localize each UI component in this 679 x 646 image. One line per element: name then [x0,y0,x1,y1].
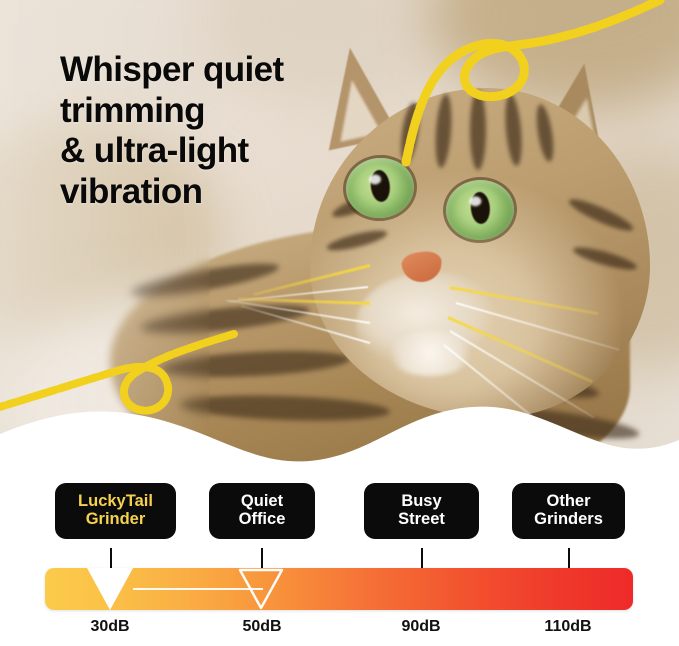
scale-label-50db: 50dB [222,618,302,636]
badge-line-1: Quiet [239,492,286,510]
marker-luckytail-filled [87,568,133,610]
marker-quiet-office-outline [238,568,284,610]
cat-stripe [325,227,388,255]
badge-line-1: Busy [398,492,445,510]
headline-line-1: Whisper quiet [60,50,380,91]
ad-creative-panel: Whisper quiet trimming & ultra-light vib… [0,0,679,646]
cat-stripe [433,94,453,169]
badge-line-1: Other [534,492,603,510]
badge-connector-line [421,548,423,569]
badge-line-2: Grinder [78,510,153,528]
page-title: Whisper quiet trimming & ultra-light vib… [60,50,380,212]
badge-quiet-office[interactable]: Quiet Office [209,483,315,539]
cat-stripe [566,194,636,235]
headline-line-4: vibration [60,172,380,213]
noise-gradient-bar [45,568,633,610]
badge-line-2: Office [239,510,286,528]
badge-connector-line [568,548,570,569]
scale-label-110db: 110dB [524,618,612,636]
scale-label-90db: 90dB [381,618,461,636]
badge-line-1: LuckyTail [78,492,153,510]
cat-stripe [398,101,422,165]
badge-connector-line [261,548,263,569]
badge-line-2: Grinders [534,510,603,528]
noise-comparison-chart: LuckyTail Grinder Quiet Office Busy Stre… [0,470,679,646]
cat-stripe [571,243,638,274]
badge-other-grinders[interactable]: Other Grinders [512,483,625,539]
cat-stripe [534,103,557,162]
cat-stripe [470,90,486,170]
scale-label-30db: 30dB [70,618,150,636]
headline-line-3: & ultra-light [60,131,380,172]
cat-stripe [503,93,524,166]
badge-connector-line [110,548,112,569]
badge-line-2: Street [398,510,445,528]
badge-luckytail-grinder[interactable]: LuckyTail Grinder [55,483,176,539]
badge-busy-street[interactable]: Busy Street [364,483,479,539]
headline-line-2: trimming [60,91,380,132]
